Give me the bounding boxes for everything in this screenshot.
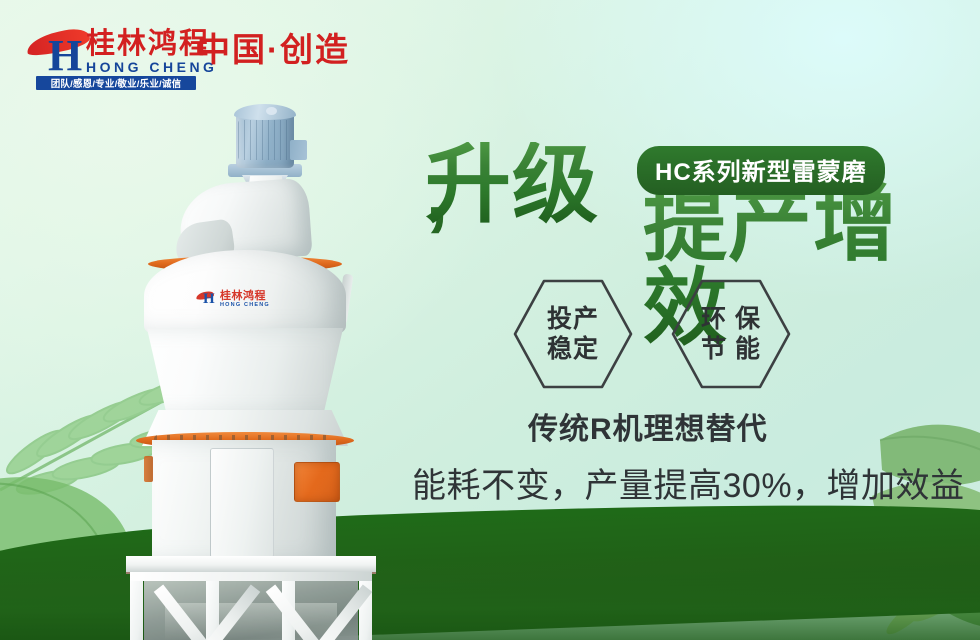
decal-h-letter: H (203, 292, 215, 307)
subheading-secondary: 能耗不变，产量提高30%，增加效益 (412, 458, 965, 507)
feature-badge-line1: 投产 (547, 304, 599, 335)
motor-cooling-fins (238, 120, 292, 160)
motor-top-cap (234, 104, 296, 120)
feature-badge-line2: 稳定 (547, 334, 599, 365)
feature-badge-group: 投产 稳定 环 保 节 能 (512, 278, 802, 390)
logo-slogan-strip: 团队/感恩/专业/敬业/乐业/诚信 (36, 76, 196, 90)
frame-top-rail (130, 572, 372, 581)
feature-badge-text-1: 投产 稳定 (512, 278, 634, 390)
promo-banner: H 桂林鸿程 HONG CHENG (0, 0, 980, 640)
dome-skirt (136, 328, 354, 414)
inspection-door (210, 448, 274, 558)
feature-badge-line1: 环 保 (701, 304, 761, 335)
motor-terminal-box (290, 140, 307, 160)
side-bracket (144, 456, 153, 482)
feature-badge-line2: 节 能 (701, 334, 761, 365)
motor-highlight (266, 107, 277, 115)
headline-part1: 升级 (425, 142, 599, 228)
decal-name-en: HONG CHENG (220, 303, 270, 309)
decal-name-cn: 桂林鸿程 (220, 291, 266, 302)
logo-name-cn: 桂林鸿程 (86, 30, 210, 59)
frame-post-left (130, 572, 143, 640)
china-made-tagline: 中国·创造 (197, 33, 350, 66)
subheading-primary: 传统R机理想替代 (528, 404, 768, 448)
feature-badge-stable-production: 投产 稳定 (512, 278, 634, 390)
feature-badge-text-2: 环 保 节 能 (670, 278, 792, 390)
product-series-badge: HC系列新型雷蒙磨 (637, 146, 885, 195)
feature-badge-eco-saving: 环 保 节 能 (670, 278, 792, 390)
base-frame (130, 572, 372, 640)
product-logo-decal: H 桂林鸿程 HONG CHENG (196, 290, 282, 312)
logo-h-letter: H (48, 34, 82, 78)
raymond-mill-product-image: H 桂林鸿程 HONG CHENG (118, 104, 418, 624)
orange-access-panel (294, 462, 340, 502)
